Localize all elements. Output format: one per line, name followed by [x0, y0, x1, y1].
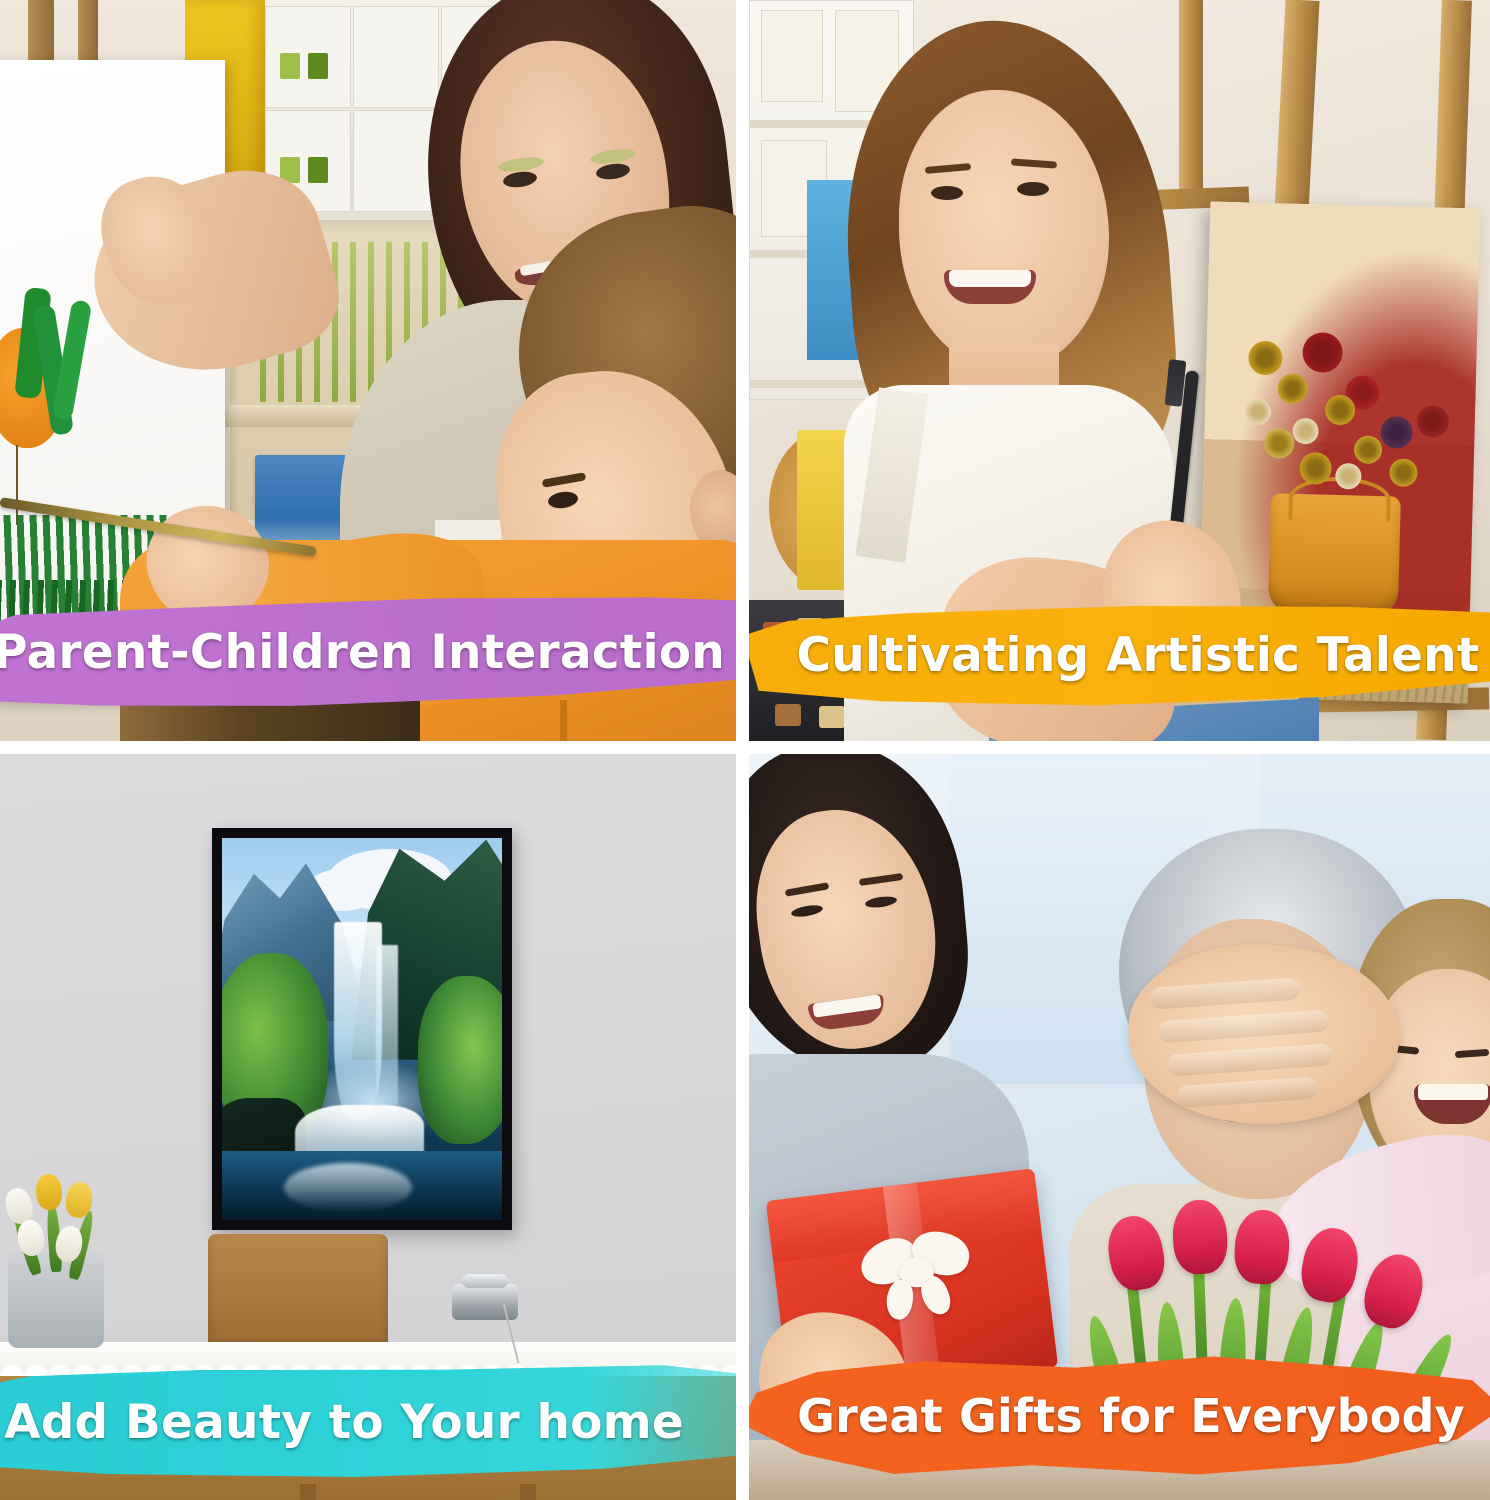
- banner-cultivating-artistic-talent: Cultivating Artistic Talent: [749, 604, 1490, 706]
- banner-great-gifts-for-everybody: Great Gifts for Everybody: [749, 1352, 1490, 1480]
- banner-label-cultivating-artistic-talent: Cultivating Artistic Talent: [749, 628, 1490, 683]
- panel-parent-children-interaction[interactable]: Parent-Children Interaction: [0, 0, 736, 741]
- panel-add-beauty-to-your-home[interactable]: Add Beauty to Your home: [0, 754, 736, 1500]
- banner-label-great-gifts-for-everybody: Great Gifts for Everybody: [749, 1389, 1490, 1443]
- panel-cultivating-artistic-talent[interactable]: Cultivating Artistic Talent: [749, 0, 1490, 741]
- banner-label-parent-children-interaction: Parent-Children Interaction: [0, 625, 736, 680]
- banner-label-add-beauty-to-your-home: Add Beauty to Your home: [0, 1395, 736, 1450]
- panel-great-gifts-for-everybody[interactable]: Great Gifts for Everybody: [749, 754, 1490, 1500]
- product-feature-collage: Parent-Children Interaction: [0, 0, 1490, 1500]
- banner-add-beauty-to-your-home: Add Beauty to Your home: [0, 1366, 736, 1478]
- banner-parent-children-interaction: Parent-Children Interaction: [0, 600, 736, 704]
- framed-waterfall-artwork: [212, 828, 512, 1230]
